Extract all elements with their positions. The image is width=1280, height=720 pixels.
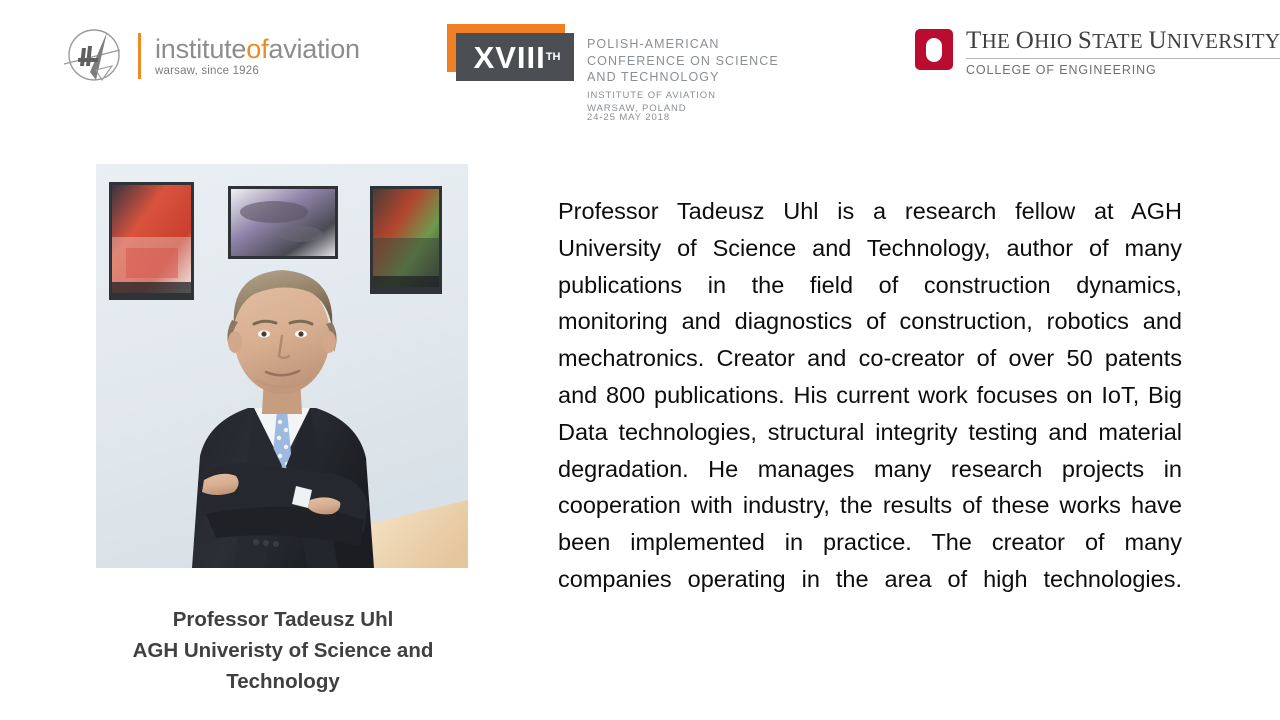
conference-title-line2: CONFERENCE ON SCIENCE (587, 53, 779, 70)
logo-divider (138, 33, 141, 79)
conference-roman-numeral: XVIII (470, 42, 546, 73)
osu-university: NIVERSITY (1167, 29, 1280, 53)
wall-poster-left (109, 182, 194, 300)
osu-college-label: COLLEGE OF ENGINEERING (966, 63, 1280, 77)
conference-title-line3: AND TECHNOLOGY (587, 69, 779, 86)
osu-wordmark: THE OHIO STATE UNIVERSITY (966, 28, 1280, 54)
conference-gray-square: XVIIITH (456, 33, 574, 81)
osu-the: HE (982, 29, 1011, 53)
speaker-portrait-image (96, 164, 468, 568)
conference-ordinal-suffix: TH (546, 51, 561, 63)
speaker-caption-name: Professor Tadeusz Uhl (78, 604, 488, 635)
osu-state: TATE (1092, 29, 1143, 53)
wall-poster-center (228, 186, 338, 259)
speaker-caption-affiliation-line1: AGH Univeristy of Science and (78, 635, 488, 666)
wall-poster-right (370, 186, 442, 294)
conference-roman-mark: XVIIITH (447, 24, 575, 84)
institute-of-aviation-emblem (60, 26, 132, 86)
ohio-state-university-logo: THE OHIO STATE UNIVERSITY COLLEGE OF ENG… (915, 28, 1280, 77)
slide-header: instituteofaviation warsaw, since 1926 X… (0, 0, 1280, 150)
institute-logo-wordmark: instituteofaviation (155, 35, 360, 63)
wordmark-institute: institute (155, 34, 246, 64)
conference-title: POLISH-AMERICAN CONFERENCE ON SCIENCE AN… (587, 36, 779, 86)
speaker-caption-affiliation-line2: Technology (78, 666, 488, 697)
wordmark-aviation: aviation (268, 34, 359, 64)
conference-title-line1: POLISH-AMERICAN (587, 36, 779, 53)
wordmark-of: of (246, 34, 268, 64)
osu-block-o-icon (915, 29, 953, 70)
conference-dates: 24-25 MAY 2018 (587, 112, 670, 123)
speaker-photo (96, 164, 468, 568)
conference-venue-line1: INSTITUTE OF AVIATION (587, 90, 716, 103)
osu-ohio: HIO (1034, 29, 1072, 53)
conference-logo: XVIIITH POLISH-AMERICAN CONFERENCE ON SC… (447, 24, 575, 84)
osu-divider-rule (966, 58, 1280, 59)
institute-logo-tagline: warsaw, since 1926 (155, 65, 360, 77)
speaker-bio-paragraph: Professor Tadeusz Uhl is a research fell… (558, 193, 1182, 635)
speaker-caption: Professor Tadeusz Uhl AGH Univeristy of … (78, 604, 488, 697)
institute-of-aviation-logo: instituteofaviation warsaw, since 1926 (60, 26, 360, 86)
